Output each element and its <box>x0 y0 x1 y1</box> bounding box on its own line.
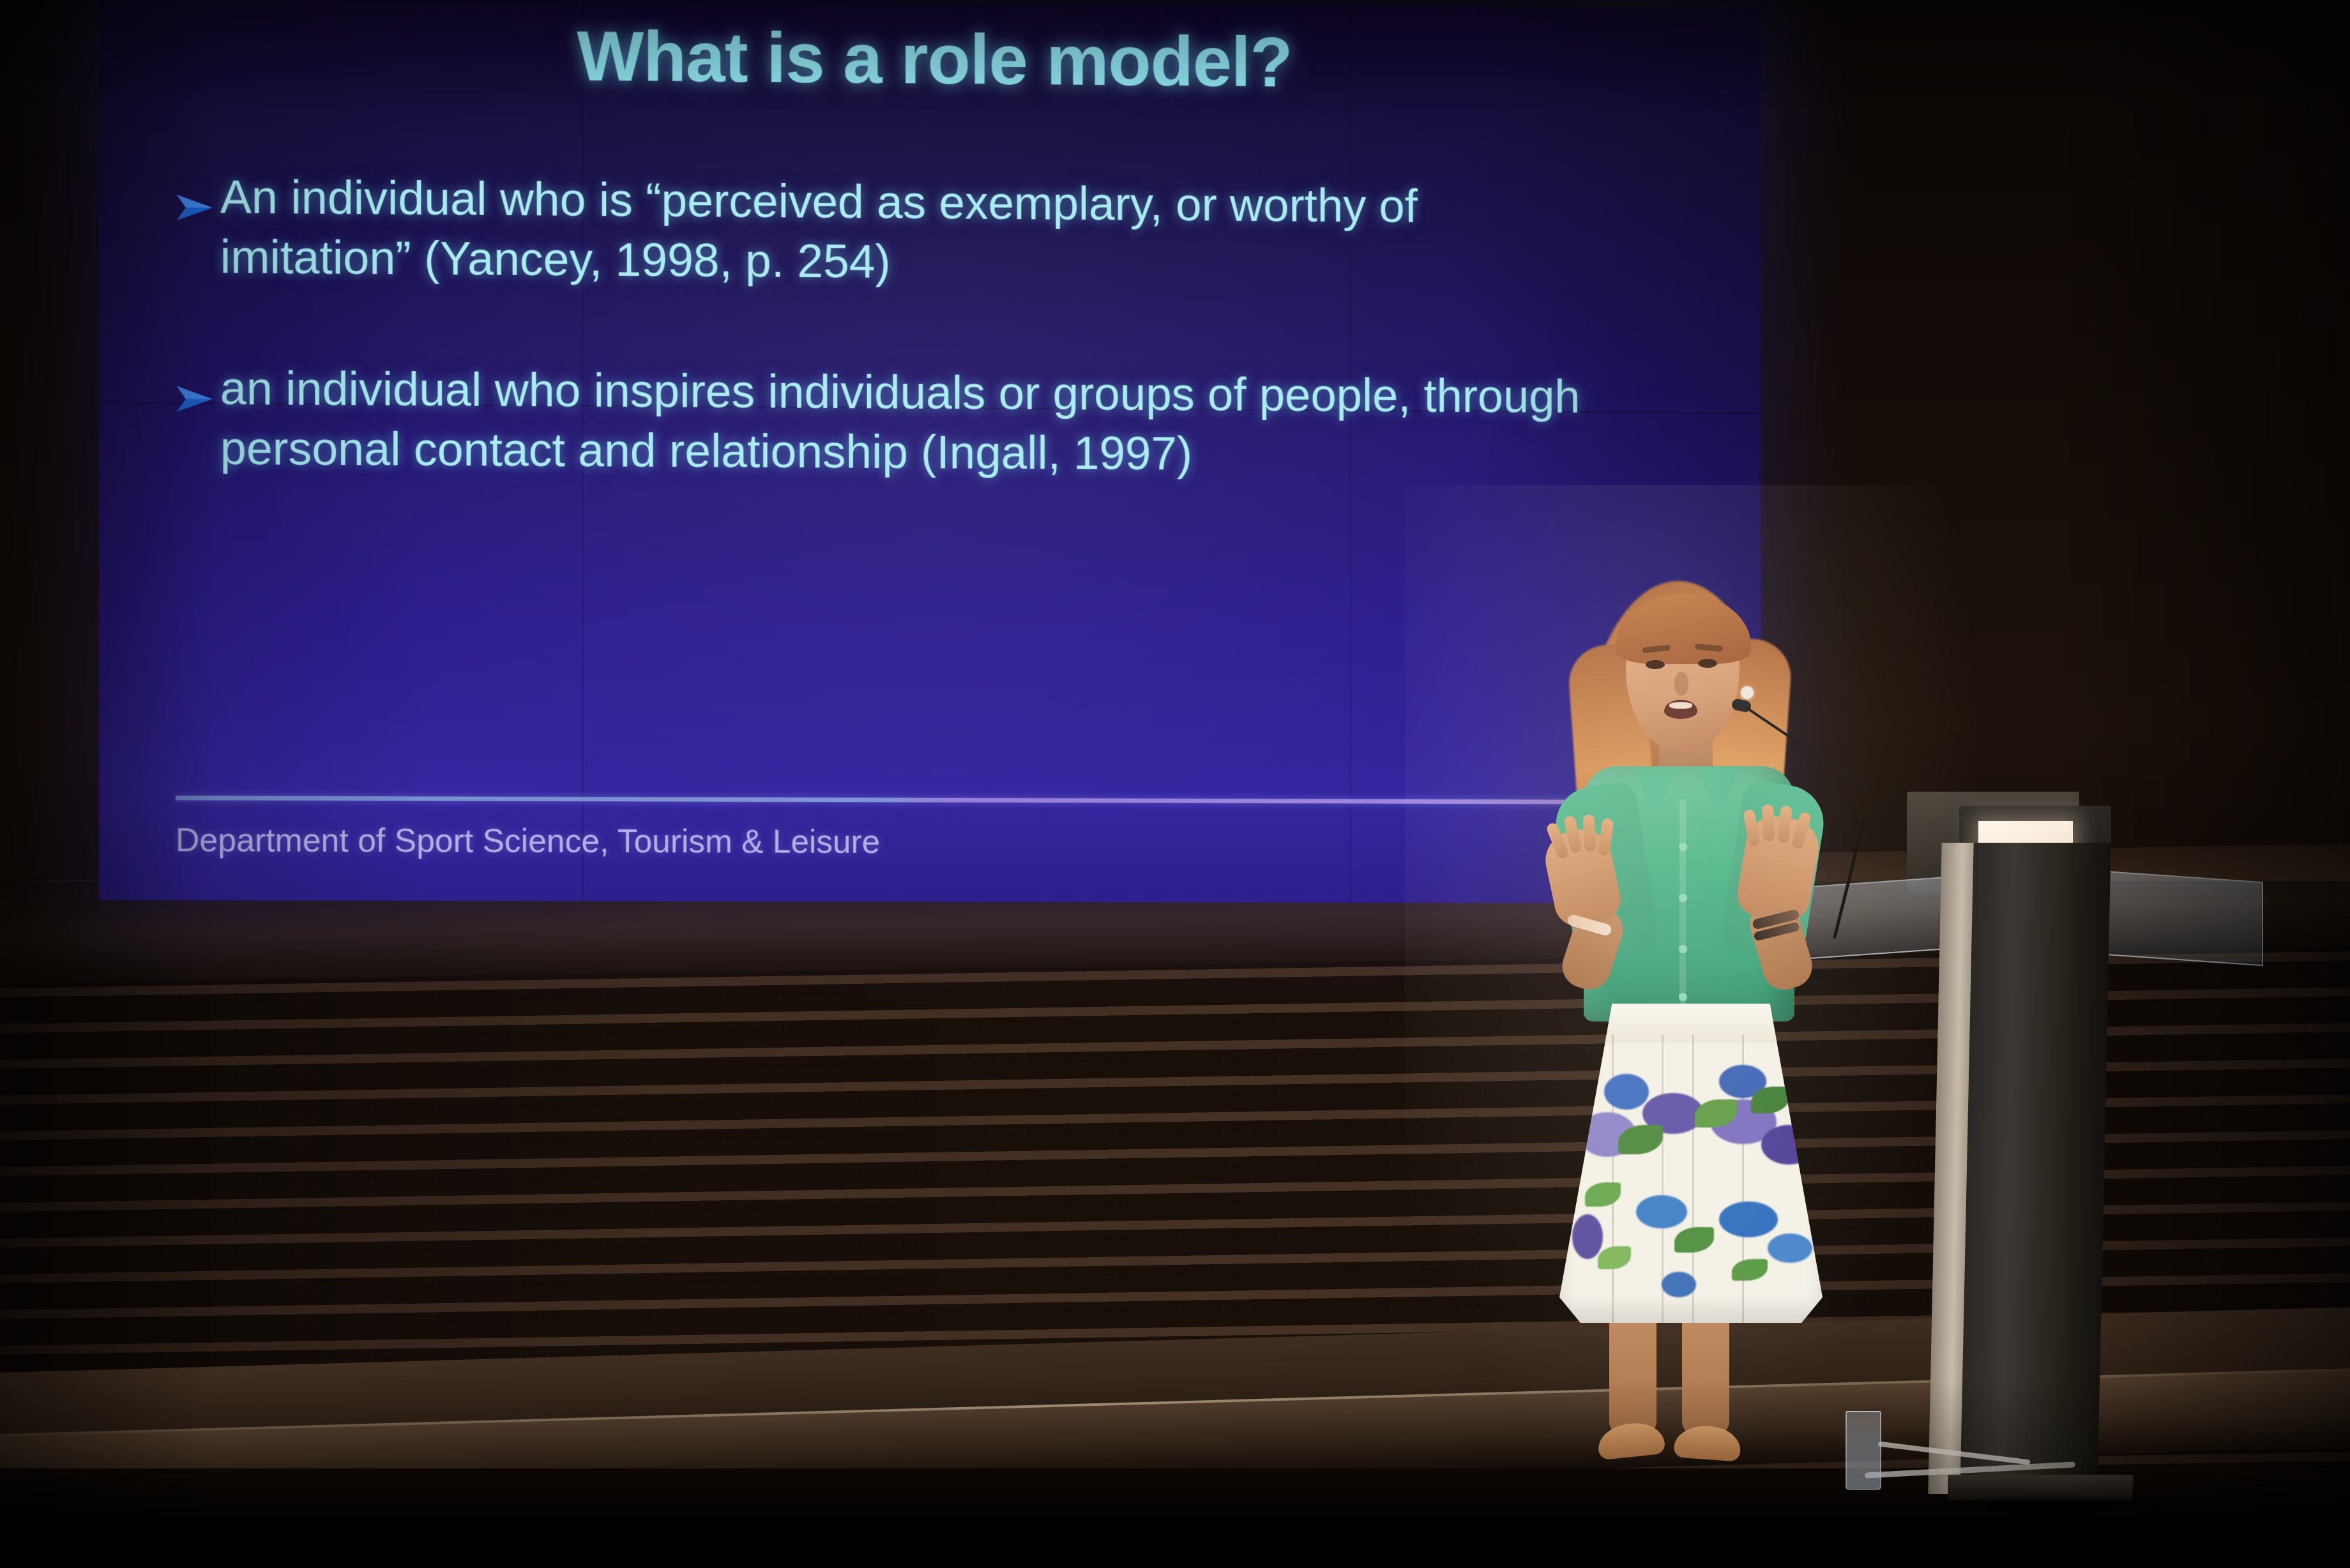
shirt-placket <box>1679 799 1686 1016</box>
presentation-photo: What is a role model? An individual who … <box>0 0 2350 1568</box>
leg-left <box>1609 1309 1656 1436</box>
leg-right <box>1682 1309 1729 1436</box>
nose <box>1674 672 1688 696</box>
earring <box>1741 686 1754 699</box>
shirt-button <box>1679 894 1687 902</box>
finger <box>1762 804 1775 842</box>
acrylic-shelf-right <box>2095 870 2263 966</box>
shirt-button <box>1679 945 1687 953</box>
lectern-column <box>1960 843 2111 1494</box>
skirt <box>1559 1004 1823 1323</box>
lectern <box>1852 779 2248 1532</box>
shirt-button <box>1679 843 1687 851</box>
shoe-right <box>1673 1424 1741 1461</box>
presenter <box>1488 575 1897 1532</box>
finger <box>1582 815 1596 852</box>
lectern-shadow <box>1929 1494 2171 1516</box>
mouth <box>1664 700 1697 719</box>
eye-left <box>1646 660 1665 669</box>
shirt-button <box>1679 993 1687 1001</box>
eye-right <box>1698 659 1717 668</box>
